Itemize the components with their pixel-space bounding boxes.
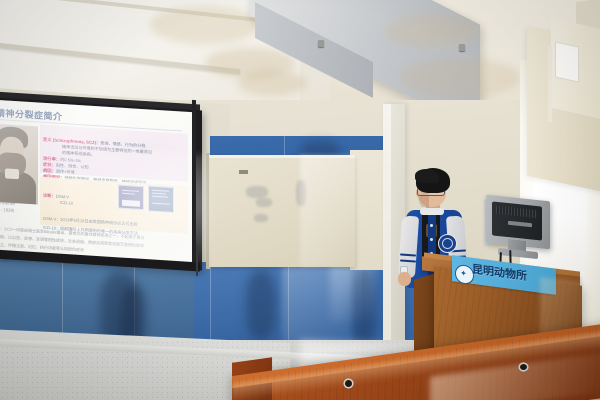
window-mullion xyxy=(548,46,552,123)
presenter-hair-fringe xyxy=(415,169,439,183)
board-clip xyxy=(239,170,248,174)
board-smudge xyxy=(254,214,268,222)
board-glare xyxy=(300,155,358,267)
ceiling-water-stain xyxy=(150,6,260,44)
ceiling-water-stain xyxy=(400,58,520,98)
sprinkler-icon xyxy=(318,40,324,47)
slide-portrait-photo xyxy=(0,123,38,204)
screen-side-rail xyxy=(192,100,196,264)
jacket-button xyxy=(430,224,433,227)
wall-stain xyxy=(246,270,276,340)
wall-column-highlight xyxy=(383,104,391,352)
desk-cable-grommet xyxy=(345,380,352,387)
board-smudge xyxy=(256,198,272,207)
institute-emblem-glyph: ✦ xyxy=(459,268,468,278)
window-pane xyxy=(555,41,579,82)
wall-light-patch xyxy=(330,262,376,322)
desk-cable-grommet xyxy=(520,364,527,370)
board-smudge xyxy=(246,186,268,198)
screen-pull-cord xyxy=(196,246,198,276)
sprinkler-icon xyxy=(459,44,465,51)
ceiling-water-stain xyxy=(385,14,481,48)
jacket-collar xyxy=(420,208,444,215)
presenter-hand xyxy=(398,272,411,286)
ceiling-water-stain xyxy=(238,70,306,96)
portrait-caption-dates: (1857 - 1939) xyxy=(0,206,16,214)
portrait-collar xyxy=(5,168,19,179)
jacket-button xyxy=(430,238,433,241)
jacket-chest-emblem-inner xyxy=(442,238,453,249)
portrait-caption: Eugen Bleuler (1857 - 1939) xyxy=(0,199,16,214)
lecture-hall-photo: 精神分裂症简介 Eugen Bleuler (1857 - 1939) 定义 (… xyxy=(0,0,600,400)
